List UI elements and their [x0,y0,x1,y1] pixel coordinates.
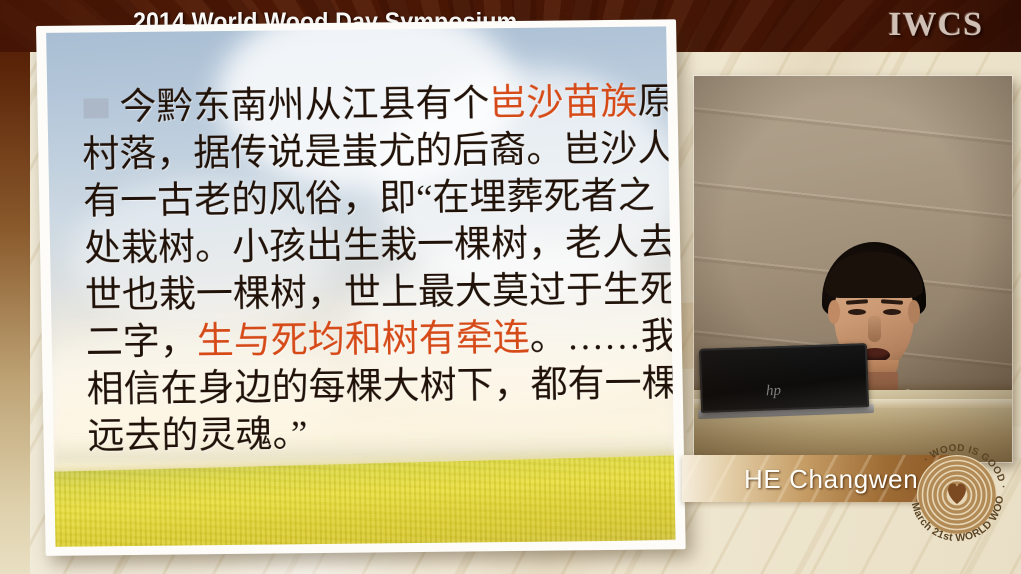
slide-text-run: 处栽树。小孩出生栽一棵树，老人去 [84,222,676,269]
speaker-name: HE Changwen [744,464,918,495]
iwcs-logo: IWCS [888,6,983,44]
slide-text-highlight: 岜沙苗族 [489,82,638,125]
presentation-slide: 今黔东南州从江县有个岜沙苗族原始村落，据传说是蚩尤的后裔。岜沙人有一古老的风俗，… [36,19,686,556]
slide-line: 今黔东南州从江县有个岜沙苗族原始 [81,79,654,132]
slide-text-highlight: 生与死均和树有牵连 [196,318,530,362]
slide-line: 世也栽一棵树，世上最大莫过于生死 [85,267,658,320]
grass-field [46,455,675,547]
video-vignette [694,76,1012,462]
slide-line: 相信在身边的每棵大树下，都有一棵 [86,360,659,413]
world-wood-day-logo: March 21st WORLD WOOD DAY · WOOD IS GOOD… [898,436,1016,554]
speaker-video: hp [694,76,1012,462]
slide-line: 村落，据传说是蚩尤的后裔。岜沙人 [82,126,655,179]
broadcast-frame: 2014 World Wood Day Symposium IWCS 今黔东南州… [0,0,1021,574]
slide-text-run: 二字， [85,321,197,363]
slide-text-run: 原始 [637,81,675,123]
slide-text-run: 。……我 [529,316,675,359]
slide-line: 远去的灵魂。” [87,407,660,460]
slide-frame: 今黔东南州从江县有个岜沙苗族原始村落，据传说是蚩尤的后裔。岜沙人有一古老的风俗，… [36,19,686,556]
slide-line: 二字，生与死均和树有牵连。……我 [85,313,658,366]
slide-text-run: 相信在身边的每棵大树下，都有一棵 [86,363,675,410]
slide-text-run: 远去的灵魂。” [87,414,308,457]
slide-line: 处栽树。小孩出生栽一棵树，老人去 [84,220,657,273]
slide-line: 有一古老的风俗，即“在埋葬死者之 [83,173,656,226]
slide-text-run: 村落，据传说是蚩尤的后裔。岜沙人 [82,128,675,175]
bullet-square-icon [83,98,108,118]
slide-body-text: 今黔东南州从江县有个岜沙苗族原始村落，据传说是蚩尤的后裔。岜沙人有一古老的风俗，… [81,79,660,461]
slide-canvas: 今黔东南州从江县有个岜沙苗族原始村落，据传说是蚩尤的后裔。岜沙人有一古老的风俗，… [46,26,675,546]
slide-text-run: 有一古老的风俗，即“在埋葬死者之 [83,176,655,223]
left-gradient-column [0,0,30,574]
slide-text-run: 今黔东南州从江县有个 [119,83,490,128]
slide-text-run: 世也栽一棵树，世上最大莫过于生死 [85,269,676,316]
